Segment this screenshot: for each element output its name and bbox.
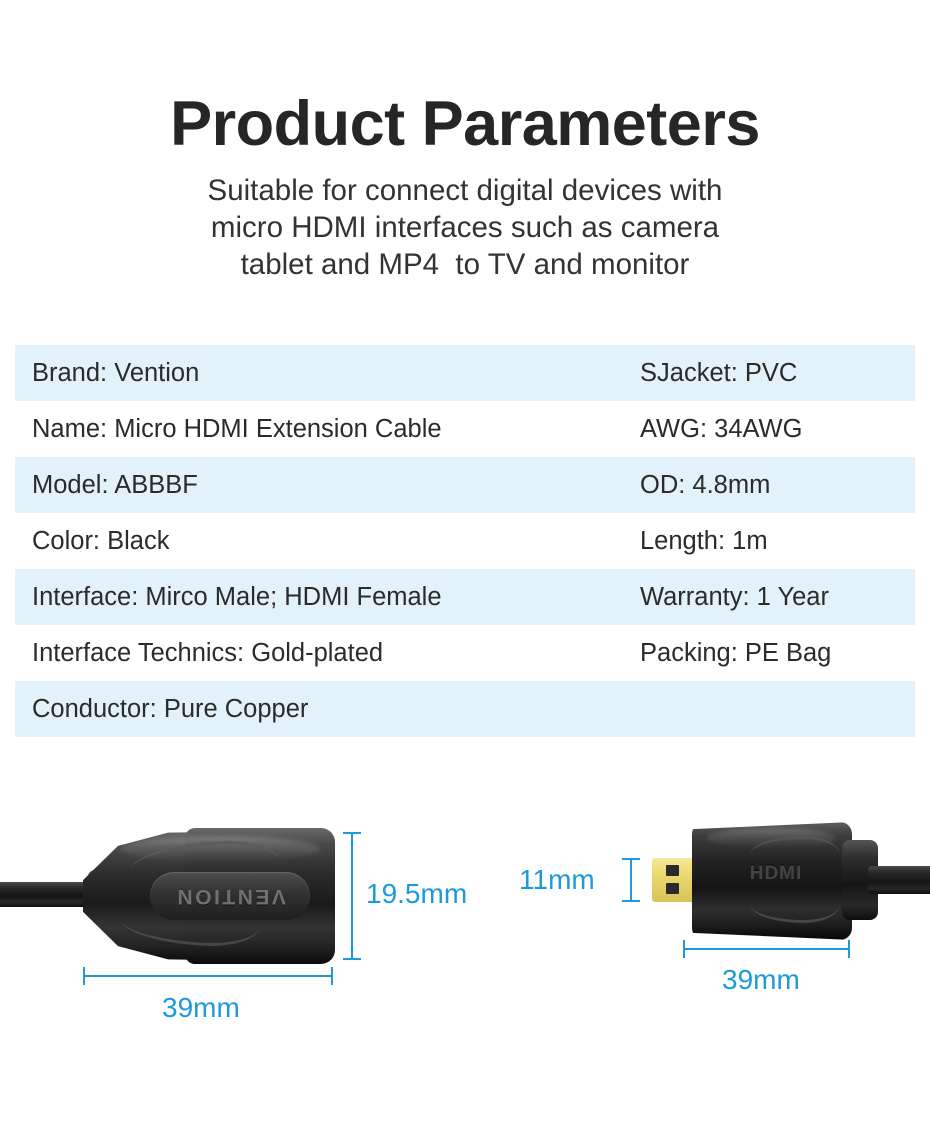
table-row: Brand: Vention SJacket: PVC bbox=[15, 345, 915, 401]
spec-cell-left: Conductor: Pure Copper bbox=[15, 695, 635, 724]
page-subtitle: Suitable for connect digital devices wit… bbox=[115, 156, 815, 283]
product-dimension-diagram: VENTION 19.5mm 39mm HDMI 11mm 39mm bbox=[0, 800, 930, 1138]
vention-logo-text: VENTION bbox=[175, 884, 286, 908]
gold-plated-plug-icon bbox=[652, 858, 698, 902]
spec-cell-right: SJacket: PVC bbox=[635, 359, 797, 388]
table-row: Name: Micro HDMI Extension Cable AWG: 34… bbox=[15, 401, 915, 457]
spec-cell-left: Color: Black bbox=[15, 527, 635, 556]
spec-cell-left: Interface: Mirco Male; HDMI Female bbox=[15, 583, 635, 612]
table-row: Color: Black Length: 1m bbox=[15, 513, 915, 569]
dimension-line-vertical-left bbox=[351, 832, 353, 960]
page-title: Product Parameters bbox=[0, 0, 930, 156]
hdmi-logo-text: HDMI bbox=[706, 863, 846, 885]
spec-cell-left: Model: ABBBF bbox=[15, 471, 635, 500]
micro-hdmi-male-connector-illustration: HDMI 11mm 39mm bbox=[470, 800, 930, 1010]
dimension-label-height-left: 19.5mm bbox=[366, 878, 467, 910]
dimension-label-width-right: 39mm bbox=[722, 964, 800, 996]
table-row: Model: ABBBF OD: 4.8mm bbox=[15, 457, 915, 513]
subtitle-line-1: Suitable for connect digital devices wit… bbox=[115, 172, 815, 209]
spec-cell-right: Warranty: 1 Year bbox=[635, 583, 829, 612]
brand-logo-plate: VENTION bbox=[150, 872, 310, 920]
dimension-label-width-left: 39mm bbox=[162, 992, 240, 1024]
dimension-line-horizontal-left bbox=[83, 975, 333, 977]
spec-cell-right: Packing: PE Bag bbox=[635, 639, 831, 668]
dimension-line-horizontal-right bbox=[683, 948, 850, 950]
table-row: Interface Technics: Gold-plated Packing:… bbox=[15, 625, 915, 681]
table-row: Interface: Mirco Male; HDMI Female Warra… bbox=[15, 569, 915, 625]
table-row: Conductor: Pure Copper bbox=[15, 681, 915, 737]
subtitle-line-3: tablet and MP4 to TV and monitor bbox=[115, 246, 815, 283]
specification-table: Brand: Vention SJacket: PVC Name: Micro … bbox=[15, 345, 915, 737]
spec-cell-left: Name: Micro HDMI Extension Cable bbox=[15, 415, 635, 444]
cable-icon bbox=[868, 866, 930, 894]
spec-cell-left: Brand: Vention bbox=[15, 359, 635, 388]
page-header: Product Parameters Suitable for connect … bbox=[0, 0, 930, 283]
spec-cell-right: Length: 1m bbox=[635, 527, 768, 556]
dimension-line-vertical-right bbox=[630, 858, 632, 902]
spec-cell-right: AWG: 34AWG bbox=[635, 415, 802, 444]
spec-cell-right: OD: 4.8mm bbox=[635, 471, 770, 500]
dimension-label-height-right: 11mm bbox=[519, 864, 595, 896]
spec-cell-left: Interface Technics: Gold-plated bbox=[15, 639, 635, 668]
subtitle-line-2: micro HDMI interfaces such as camera bbox=[115, 209, 815, 246]
hdmi-female-connector-illustration: VENTION 19.5mm 39mm bbox=[0, 800, 470, 1010]
